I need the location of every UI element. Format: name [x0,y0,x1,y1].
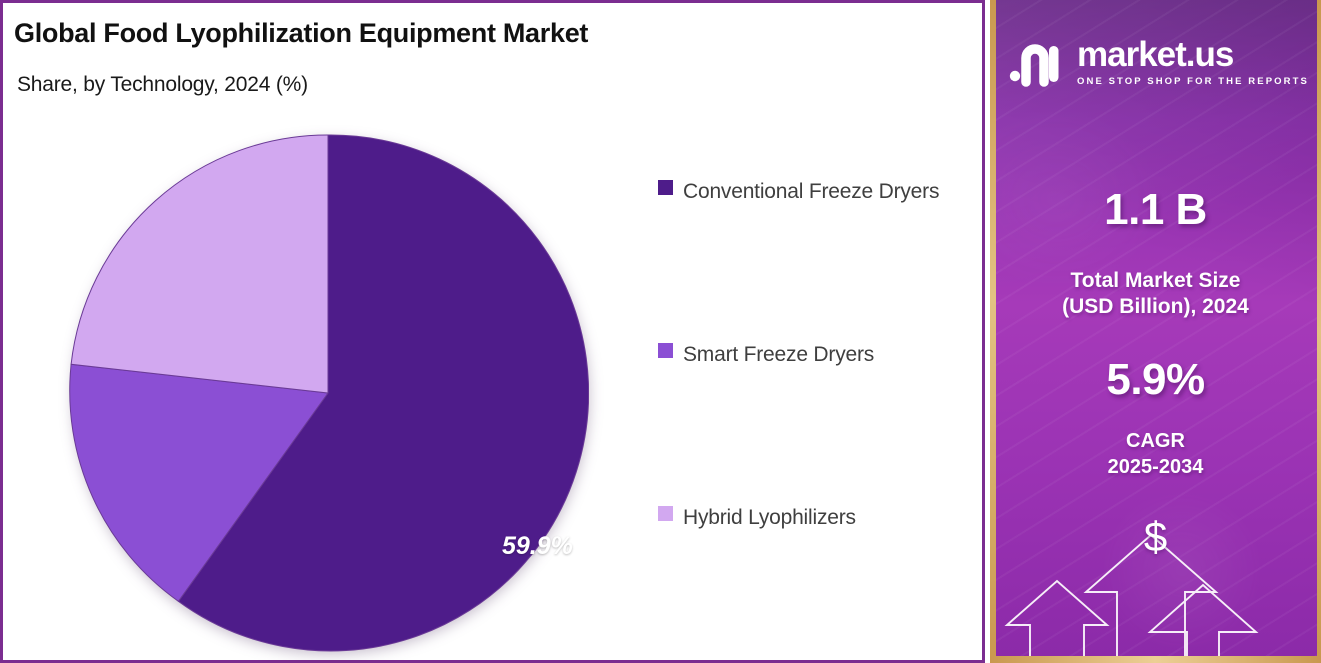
legend-item-hybrid-lyophilizers[interactable]: Hybrid Lyophilizers [658,499,856,536]
market-size-value: 1.1 B [990,185,1321,235]
chart-subtitle: Share, by Technology, 2024 (%) [17,73,308,97]
market-us-logo[interactable]: market.us ONE STOP SHOP FOR THE REPORTS [1009,30,1299,94]
market-size-label-line2: (USD Billion), 2024 [1062,295,1249,318]
pie-slice-hybrid-lyophilizers[interactable] [71,135,328,393]
infographic-root: Global Food Lyophilization Equipment Mar… [0,0,1321,663]
legend-item-label: Hybrid Lyophilizers [683,499,856,536]
market-us-logo-icon [1009,36,1067,88]
legend-swatch-icon [658,180,673,195]
market-size-label-line1: Total Market Size [1071,269,1241,292]
legend-item-smart-freeze-dryers[interactable]: Smart Freeze Dryers [658,336,874,373]
logo-wordmark: market.us [1077,37,1309,73]
cagr-label-line1: CAGR [1126,430,1185,452]
page-title: Global Food Lyophilization Equipment Mar… [14,18,588,49]
logo-tagline: ONE STOP SHOP FOR THE REPORTS [1077,76,1309,87]
legend-swatch-icon [658,343,673,358]
up-arrow-icon-right [1150,585,1256,663]
panel-gold-accent-bottom [990,656,1321,663]
cagr-label: CAGR 2025-2034 [990,428,1321,480]
pie-chart-svg [67,132,589,654]
market-size-label: Total Market Size (USD Billion), 2024 [990,268,1321,320]
cagr-value: 5.9% [990,355,1321,405]
chart-panel: Global Food Lyophilization Equipment Mar… [0,0,985,663]
dollar-sign-icon: $ [990,516,1321,558]
up-arrow-icon-left [1007,581,1107,663]
legend-item-conventional-freeze-dryers[interactable]: Conventional Freeze Dryers [658,173,939,210]
panel-gold-accent-right [1317,0,1321,663]
pie-slice-value-label: 59.9% [502,532,573,561]
cagr-label-line2: 2025-2034 [1108,456,1204,478]
legend-item-label: Conventional Freeze Dryers [683,173,939,210]
pie-chart: 59.9% [67,132,589,654]
legend-swatch-icon [658,506,673,521]
legend-item-label: Smart Freeze Dryers [683,336,874,373]
panel-gold-accent-left [990,0,996,663]
stats-panel: market.us ONE STOP SHOP FOR THE REPORTS … [990,0,1321,663]
